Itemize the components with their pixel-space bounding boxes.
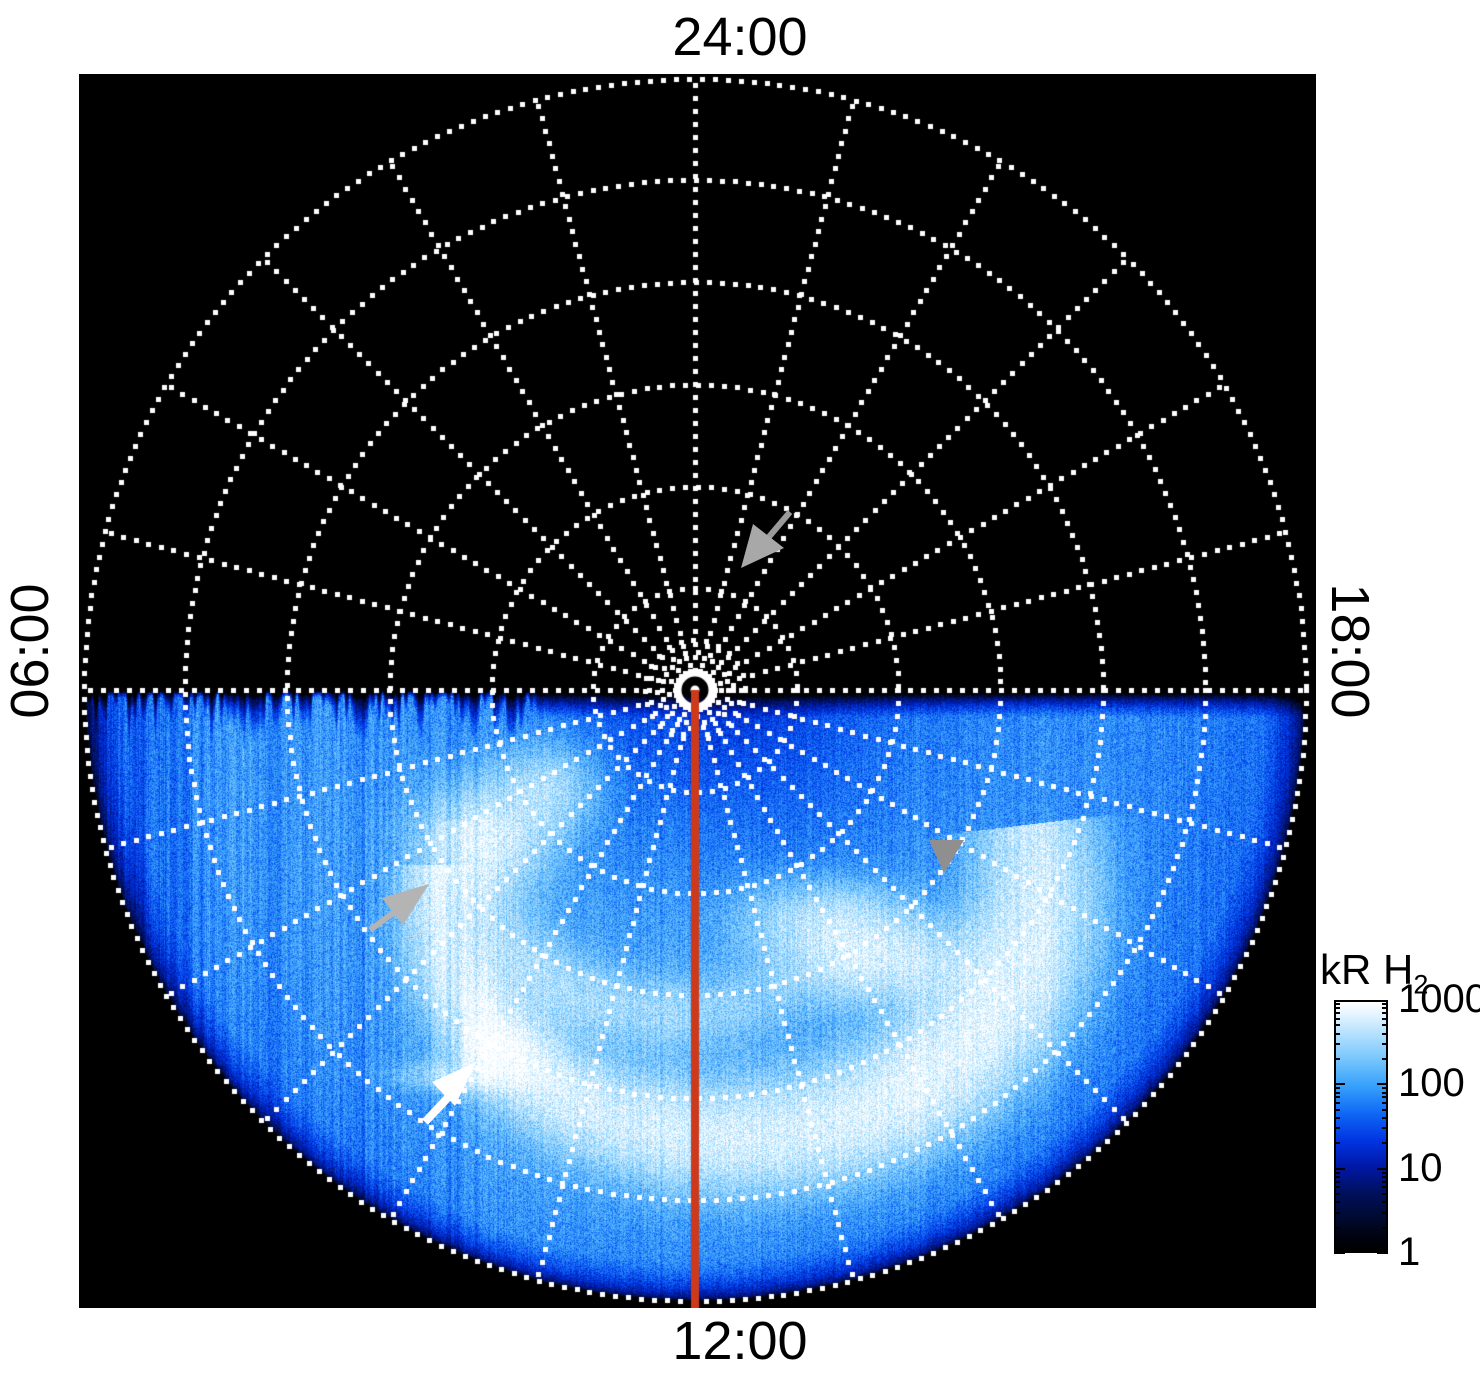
- polar-grid-overlay: [79, 74, 1316, 1308]
- colorbar-tick-label-1000: 1000: [1398, 979, 1480, 1019]
- figure-root: 24:00 12:00 06:00 18:00 kR H2 1000 100 1…: [0, 0, 1480, 1384]
- colorbar-ticks: [1334, 1000, 1388, 1253]
- axis-label-top: 24:00: [0, 6, 1480, 68]
- polar-plot-area: [79, 74, 1316, 1308]
- colorbar-legend: kR H2 1000 100 10 1: [1320, 946, 1480, 1316]
- axis-label-bottom: 12:00: [0, 1310, 1480, 1372]
- colorbar-tick-label-10: 10: [1398, 1148, 1443, 1188]
- colorbar-tick-label-100: 100: [1398, 1063, 1465, 1103]
- axis-label-right: 18:00: [1319, 521, 1381, 781]
- axis-label-left: 06:00: [0, 521, 61, 781]
- colorbar-tick-label-1: 1: [1398, 1232, 1420, 1272]
